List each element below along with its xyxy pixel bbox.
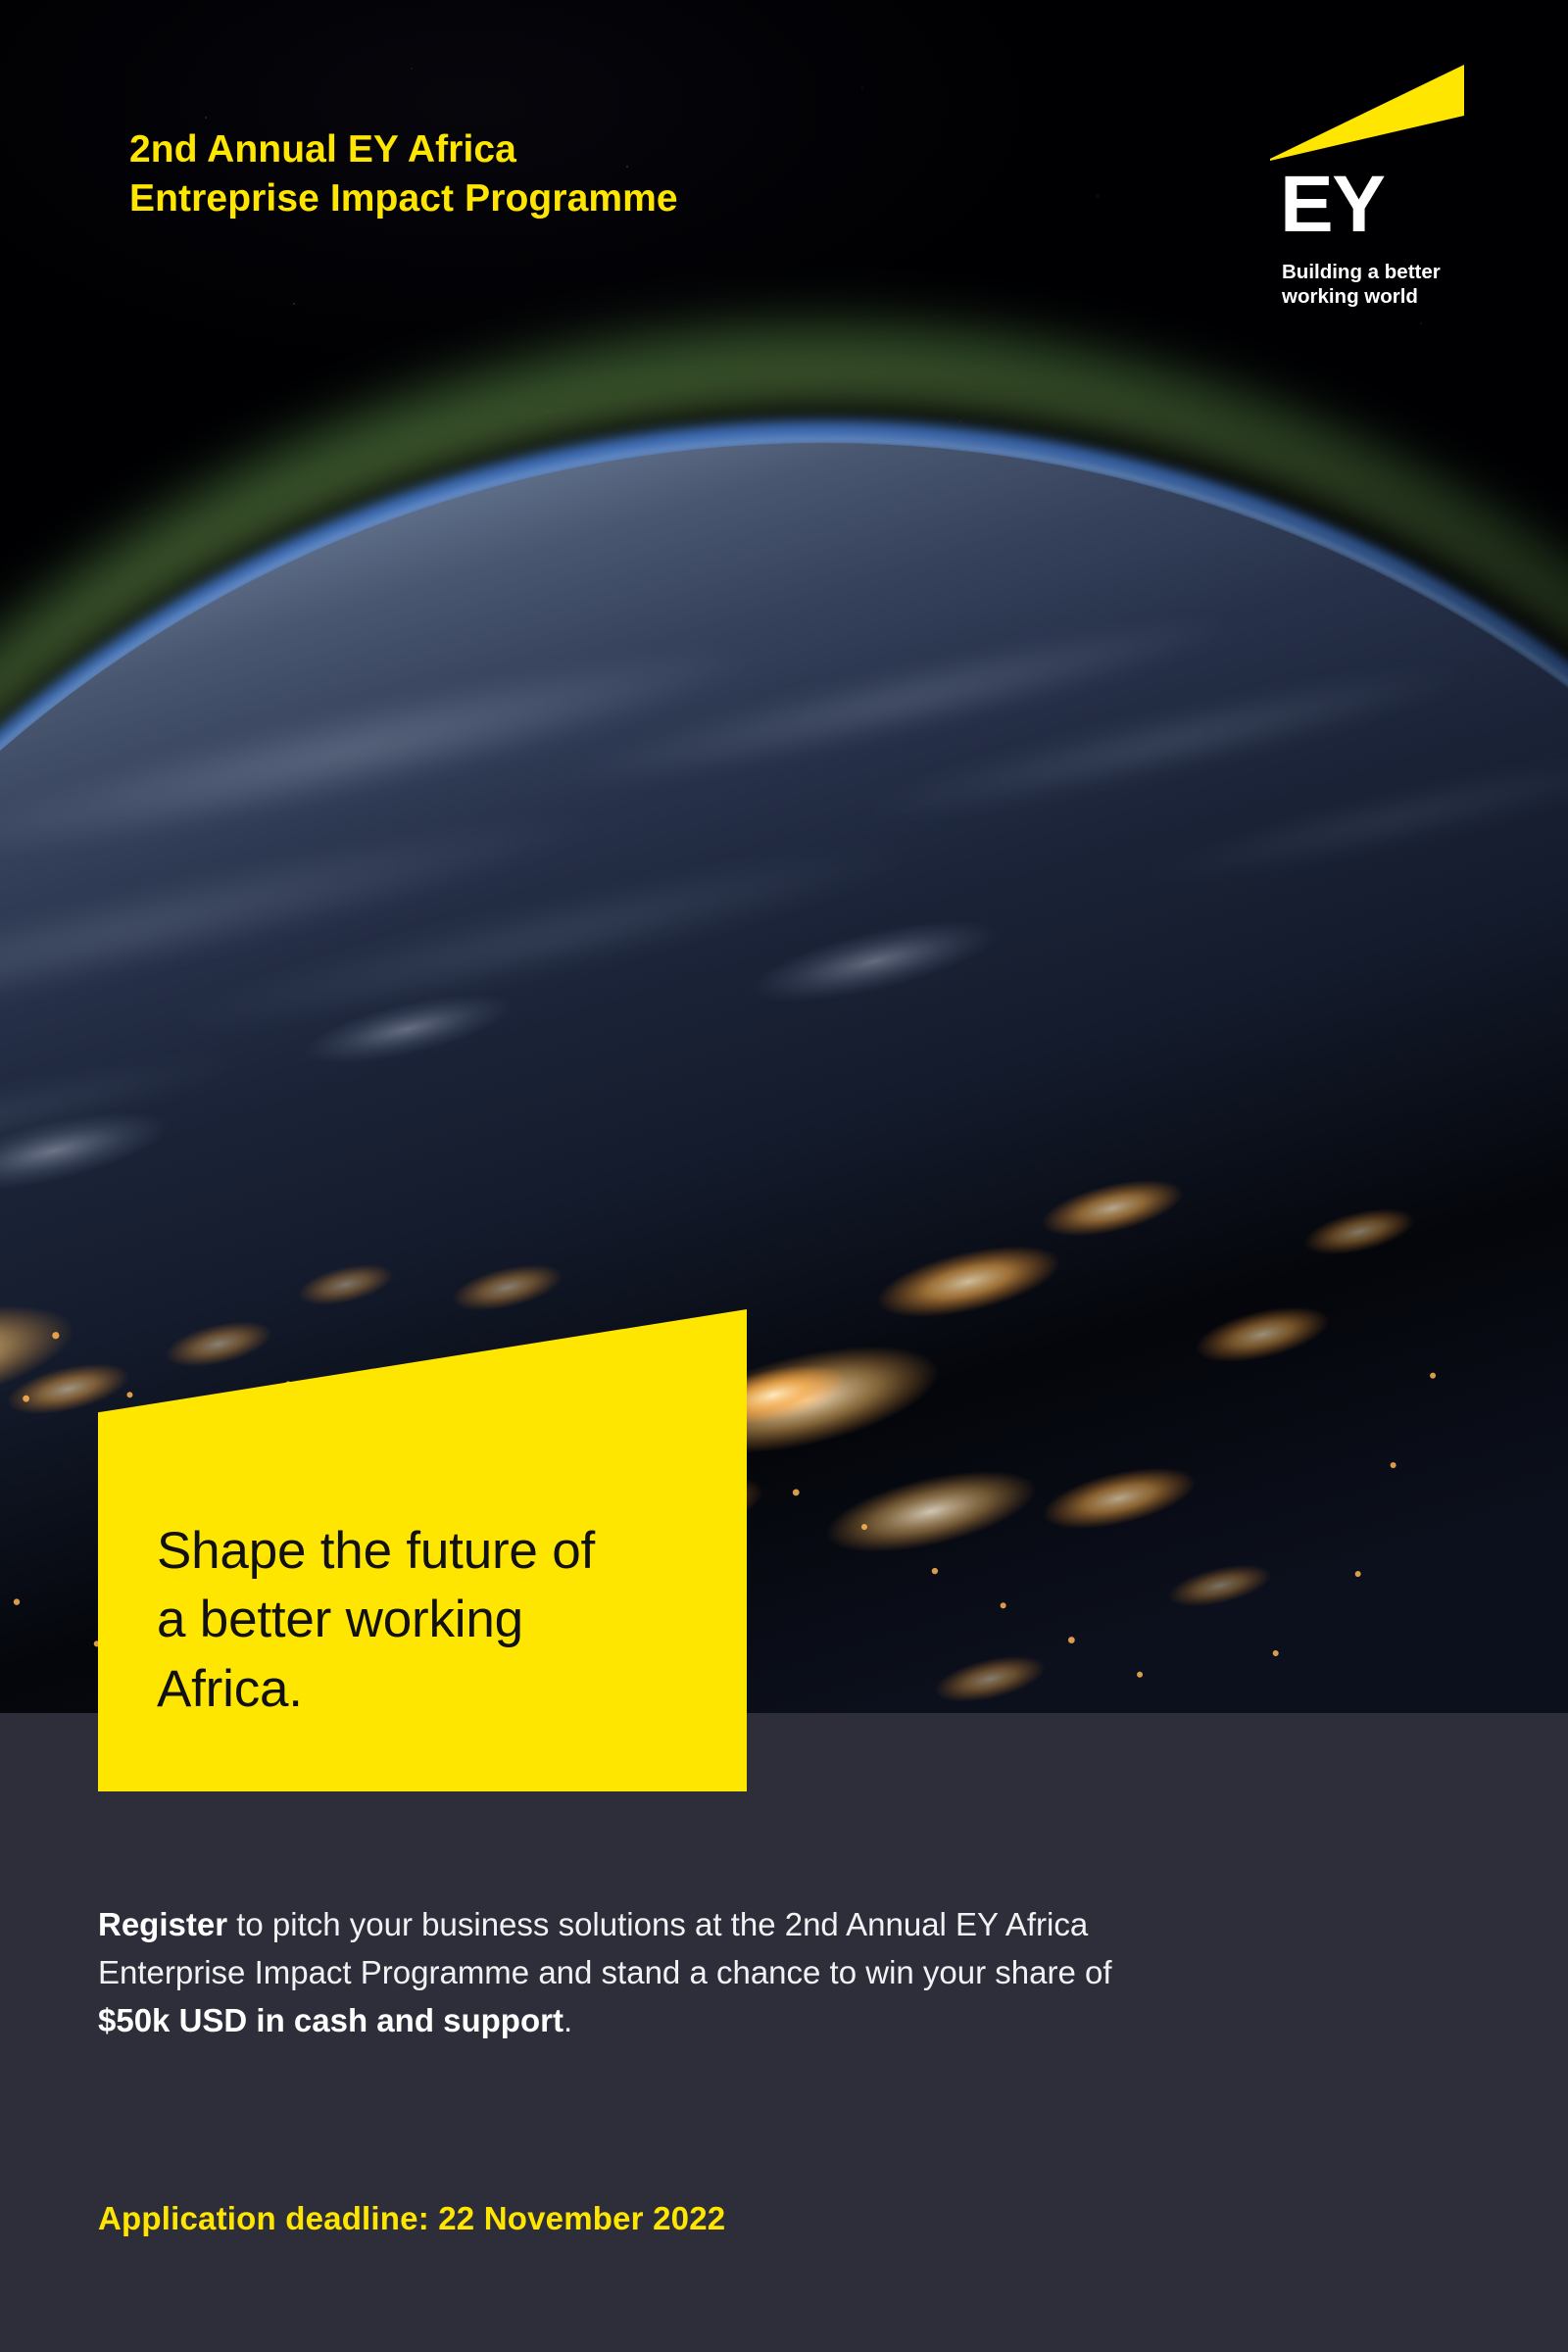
- ey-beam-icon: [1270, 57, 1497, 165]
- body-text-1: to pitch your business solutions at the …: [98, 1906, 1112, 1990]
- prize-emphasis: $50k USD in cash and support: [98, 2002, 563, 2038]
- page-title: 2nd Annual EY Africa Entreprise Impact P…: [129, 125, 678, 224]
- ey-logo: EY Building a better working world: [1270, 57, 1497, 302]
- body-text-2: .: [563, 2002, 572, 2038]
- application-deadline: Application deadline: 22 November 2022: [98, 2200, 725, 2237]
- ey-tagline: Building a better working world: [1282, 261, 1441, 309]
- body-copy: Register to pitch your business solution…: [98, 1901, 1147, 2044]
- register-emphasis: Register: [98, 1906, 227, 1942]
- callout-headline: Shape the future of a better working Afr…: [157, 1517, 595, 1724]
- ey-wordmark: EY: [1280, 165, 1384, 245]
- poster-page: 2nd Annual EY Africa Entreprise Impact P…: [0, 0, 1568, 2352]
